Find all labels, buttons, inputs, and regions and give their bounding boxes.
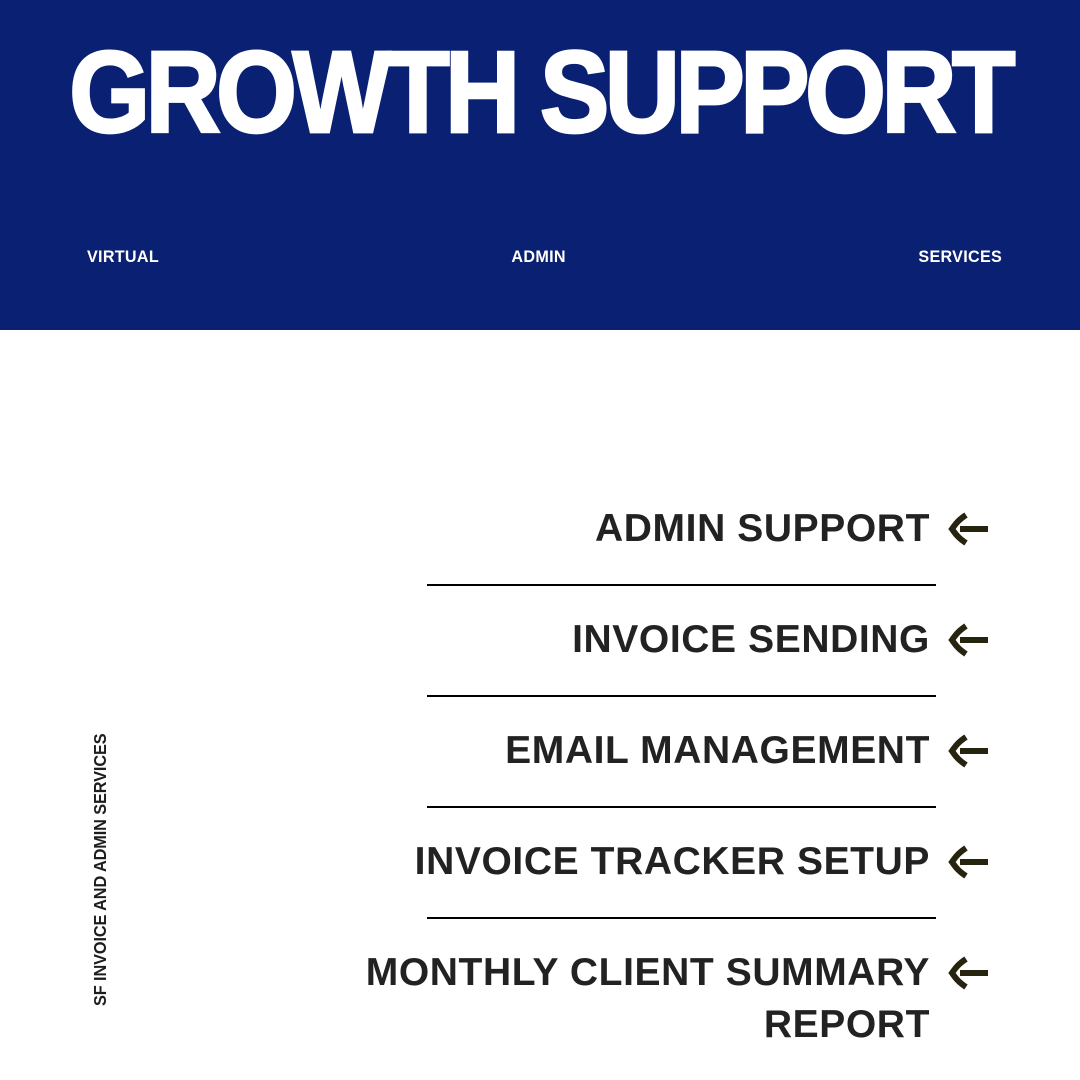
- spacer: [0, 586, 1080, 614]
- arrow-left-icon: [946, 503, 990, 555]
- subrow-item-virtual: VIRTUAL: [87, 246, 159, 268]
- list-divider: [427, 917, 936, 919]
- service-label: ADMIN SUPPORT: [595, 503, 930, 555]
- list-item[interactable]: ADMIN SUPPORT: [0, 503, 1080, 555]
- header-band: GROWTH SUPPORT VIRTUAL ADMIN SERVICES: [0, 0, 1080, 330]
- arrow-left-icon: [946, 614, 990, 666]
- spacer: [0, 697, 1080, 725]
- arrow-left-icon: [946, 947, 990, 999]
- spacer: [0, 808, 1080, 836]
- list-divider: [427, 695, 936, 697]
- header-subrow: VIRTUAL ADMIN SERVICES: [87, 246, 1002, 268]
- spacer: [0, 919, 1080, 947]
- page-title: GROWTH SUPPORT: [38, 34, 1042, 150]
- spacer: [0, 888, 1080, 917]
- arrow-left-icon: [946, 836, 990, 888]
- service-label: MONTHLY CLIENT SUMMARY REPORT: [230, 947, 930, 1051]
- list-item[interactable]: EMAIL MANAGEMENT: [0, 725, 1080, 777]
- spacer: [0, 777, 1080, 806]
- spacer: [0, 666, 1080, 695]
- service-label: INVOICE SENDING: [572, 614, 930, 666]
- list-item[interactable]: INVOICE TRACKER SETUP: [0, 836, 1080, 888]
- service-label: EMAIL MANAGEMENT: [505, 725, 930, 777]
- spacer: [0, 555, 1080, 584]
- list-item[interactable]: INVOICE SENDING: [0, 614, 1080, 666]
- subrow-item-services: SERVICES: [918, 246, 1002, 268]
- service-list: ADMIN SUPPORT INVOICE SENDING EMAIL MANA…: [0, 503, 1080, 1051]
- arrow-left-icon: [946, 725, 990, 777]
- list-divider: [427, 584, 936, 586]
- list-divider: [427, 806, 936, 808]
- poster-canvas: GROWTH SUPPORT VIRTUAL ADMIN SERVICES SF…: [0, 0, 1080, 1080]
- service-label: INVOICE TRACKER SETUP: [415, 836, 930, 888]
- subrow-item-admin: ADMIN: [511, 246, 565, 268]
- list-item[interactable]: MONTHLY CLIENT SUMMARY REPORT: [0, 947, 1080, 1051]
